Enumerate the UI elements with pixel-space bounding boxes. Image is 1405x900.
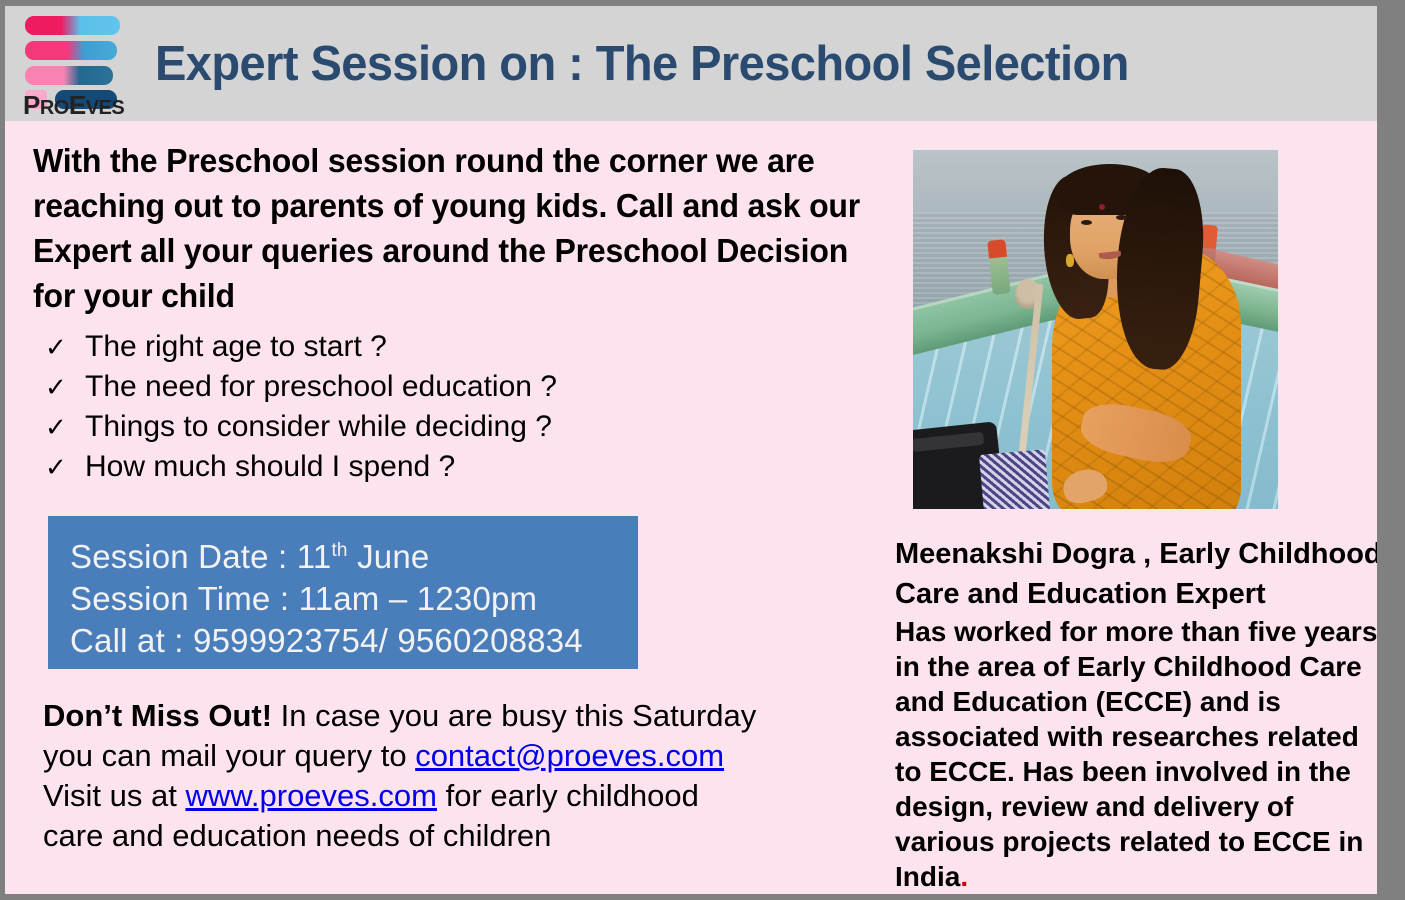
logo-bar-2-icon (25, 41, 117, 60)
contact-line3-prefix: Visit us at (43, 778, 185, 813)
contact-line4: care and education needs of children (43, 818, 551, 853)
intro-paragraph: With the Preschool session round the cor… (33, 138, 867, 318)
logo-wordmark: PROEVES (23, 90, 124, 121)
contact-paragraph: Don’t Miss Out! In case you are busy thi… (43, 696, 833, 856)
list-item: ✓ The right age to start ? (33, 327, 893, 367)
question-list: ✓ The right age to start ? ✓ The need fo… (33, 327, 893, 487)
photo-patterned-cloth (979, 449, 1051, 509)
list-item: ✓ Things to consider while deciding ? (33, 407, 893, 447)
session-call-label: Call at : (70, 622, 193, 659)
contact-line1: In case you are busy this Saturday (272, 698, 756, 733)
photo-person-earring (1066, 254, 1074, 267)
question-label: Things to consider while deciding ? (85, 407, 552, 447)
website-link[interactable]: www.proeves.com (185, 778, 437, 813)
expert-description: Has worked for more than five years in t… (895, 614, 1377, 894)
dont-miss-out-headline: Don’t Miss Out! (43, 698, 272, 733)
question-label: The right age to start ? (85, 327, 387, 367)
photo-person-eye-left (1081, 220, 1092, 225)
contact-line2-prefix: you can mail your query to (43, 738, 415, 773)
photo-person-eye-right (1116, 215, 1127, 220)
list-item: ✓ How much should I spend ? (33, 447, 893, 487)
session-info-box: Session Date : 11th June Session Time : … (48, 516, 638, 669)
flyer-canvas: PROEVES Expert Session on : The Preschoo… (5, 6, 1377, 894)
page-title: Expert Session on : The Preschool Select… (155, 36, 1129, 92)
session-phone-numbers: 9599923754/ 9560208834 (193, 622, 583, 659)
expert-bio-text: Has worked for more than five years in t… (895, 616, 1377, 892)
check-icon: ✓ (33, 447, 85, 487)
left-column: With the Preschool session round the cor… (33, 138, 893, 503)
session-time-row: Session Time : 11am – 1230pm (70, 578, 638, 620)
flyer-root: PROEVES Expert Session on : The Preschoo… (0, 0, 1405, 900)
session-date-row: Session Date : 11th June (70, 530, 638, 578)
check-icon: ✓ (33, 367, 85, 407)
session-time-value: 11am – 1230pm (299, 580, 538, 617)
session-date-value: 11 (297, 538, 332, 575)
expert-bio-block: Meenakshi Dogra , Early Childhood Care a… (895, 534, 1377, 894)
session-call-row: Call at : 9599923754/ 9560208834 (70, 620, 638, 662)
expert-name: Meenakshi Dogra , Early Childhood Care a… (895, 534, 1377, 614)
expert-photo (913, 150, 1278, 509)
logo-bar-1-icon (25, 16, 120, 35)
session-date-label: Session Date : (70, 538, 297, 575)
email-link[interactable]: contact@proeves.com (415, 738, 724, 773)
logo-bar-3-icon (25, 66, 113, 85)
question-label: How much should I spend ? (85, 447, 455, 487)
session-date-suffix: th (331, 540, 347, 561)
proeves-logo: PROEVES (19, 10, 129, 118)
check-icon: ✓ (33, 407, 85, 447)
question-label: The need for preschool education ? (85, 367, 557, 407)
list-item: ✓ The need for preschool education ? (33, 367, 893, 407)
body-area: With the Preschool session round the cor… (5, 121, 1377, 894)
photo-person-bindi (1099, 204, 1105, 210)
session-date-month: June (348, 538, 430, 575)
check-icon: ✓ (33, 327, 85, 367)
header-band: PROEVES Expert Session on : The Preschoo… (5, 6, 1377, 121)
session-time-label: Session Time : (70, 580, 299, 617)
expert-bio-period: . (960, 861, 968, 892)
contact-line3-suffix: for early childhood (437, 778, 699, 813)
